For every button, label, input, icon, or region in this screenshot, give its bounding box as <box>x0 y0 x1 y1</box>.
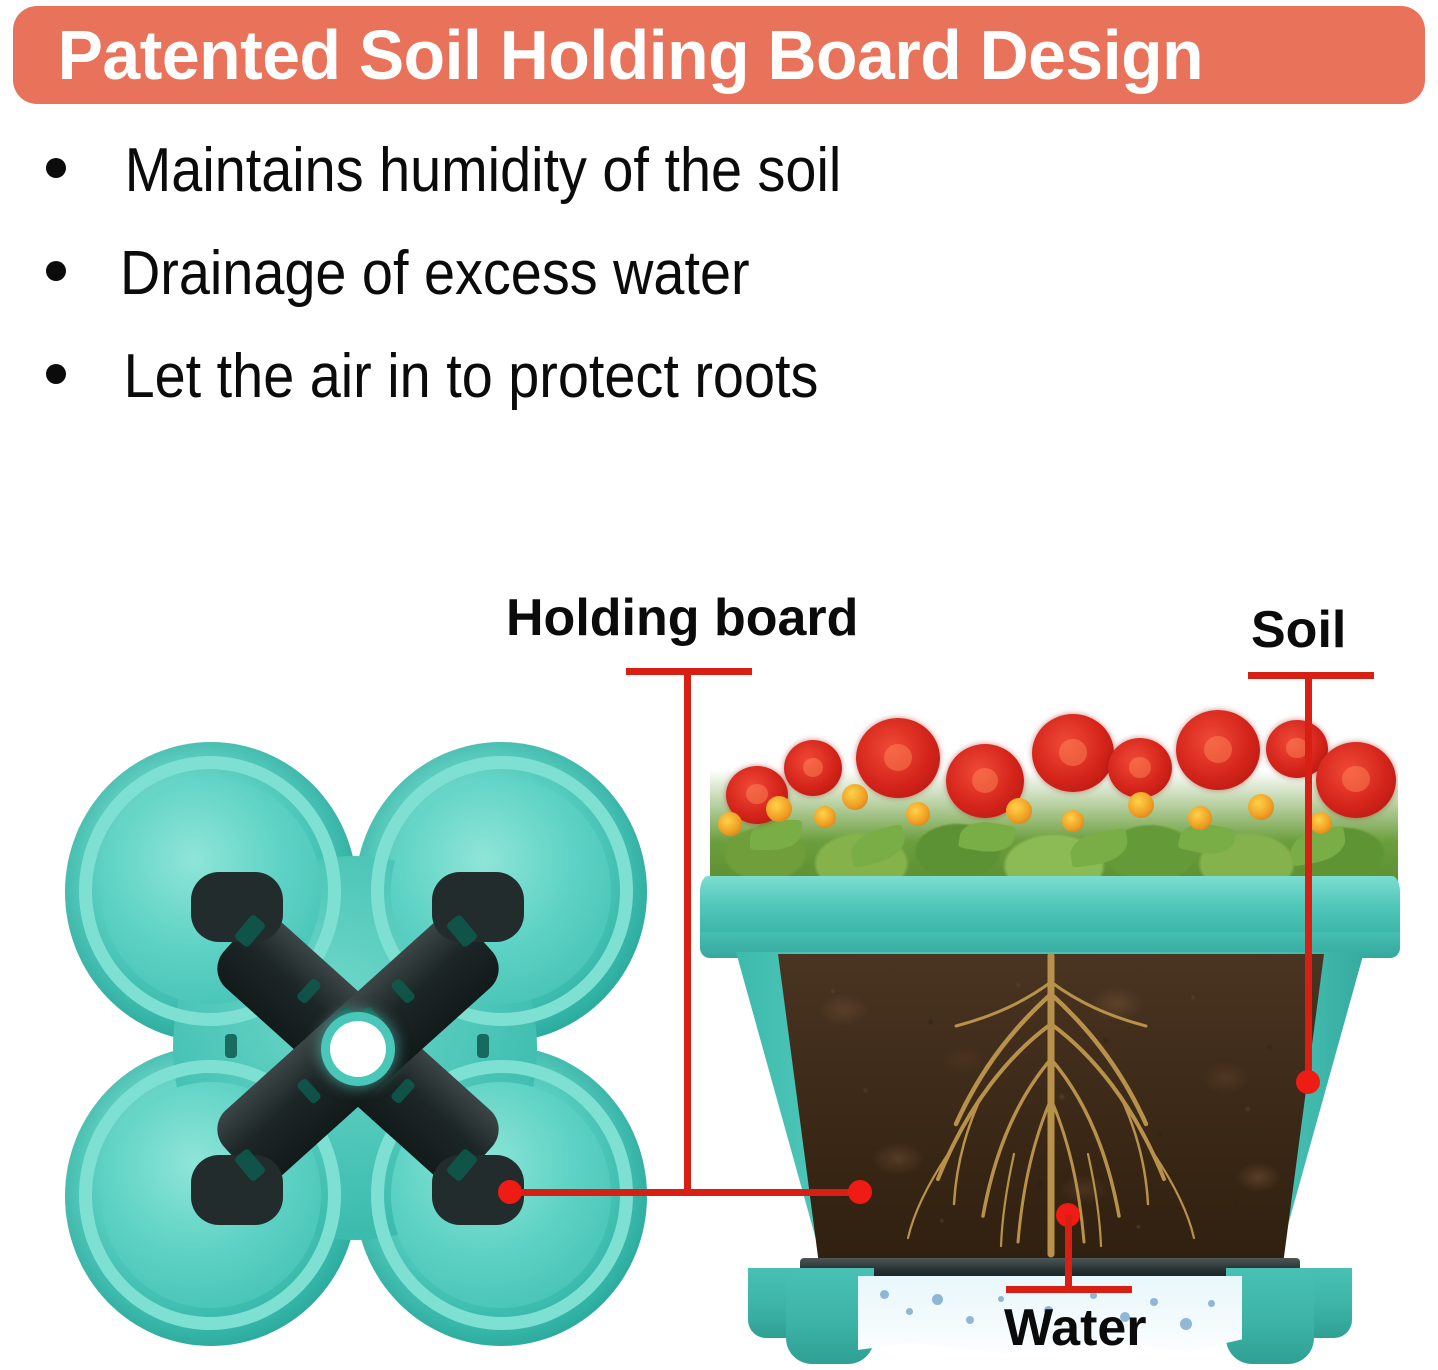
flower-bud <box>842 784 868 810</box>
bullet-point-icon <box>46 261 66 281</box>
planter-top-view-image <box>55 738 655 1358</box>
list-item: Drainage of excess water <box>46 243 1146 346</box>
header-banner: Patented Soil Holding Board Design <box>13 6 1425 104</box>
flower-bud <box>1310 812 1332 834</box>
feature-bullet-list: Maintains humidity of the soil Drainage … <box>46 140 1146 449</box>
callout-label-soil: Soil <box>1251 604 1346 656</box>
water-leader-bar <box>1006 1286 1132 1293</box>
water-droplet <box>1090 1292 1097 1299</box>
flower-bloom <box>1316 742 1396 818</box>
board-corner-pad <box>191 1155 283 1225</box>
flower-bloom <box>1108 738 1172 798</box>
water-droplet <box>966 1316 974 1324</box>
callout-label-holding-board: Holding board <box>506 592 858 644</box>
feature-text: Let the air in to protect roots <box>124 346 819 408</box>
product-diagram: Holding board Soil Water <box>0 560 1438 1369</box>
holding-board-leader-cross <box>510 1189 862 1196</box>
holding-board-marker-left <box>498 1180 522 1204</box>
callout-label-water: Water <box>1004 1302 1147 1354</box>
water-droplet <box>906 1308 913 1315</box>
water-droplet <box>1208 1300 1215 1307</box>
feature-text: Maintains humidity of the soil <box>125 140 841 202</box>
flower-cluster <box>710 680 1398 890</box>
flower-bud <box>1062 810 1084 832</box>
holding-board-marker-right <box>848 1180 872 1204</box>
flower-bloom <box>1176 710 1260 790</box>
water-droplet <box>1150 1298 1158 1306</box>
bullet-point-icon <box>46 158 66 178</box>
soil-texture <box>778 954 1324 1264</box>
board-vent-slot <box>477 1034 489 1058</box>
soil-leader-stem <box>1305 672 1312 1076</box>
bullet-point-icon <box>46 364 66 384</box>
feature-text: Drainage of excess water <box>120 243 750 305</box>
water-leader-stem <box>1065 1215 1072 1291</box>
flower-bud <box>1248 794 1274 820</box>
flower-bud <box>906 802 930 826</box>
holding-board-leader-stem <box>684 668 691 1195</box>
flower-bud <box>1188 806 1212 830</box>
soil-marker <box>1296 1070 1320 1094</box>
flower-bud <box>1128 792 1154 818</box>
board-corner-pad <box>432 872 524 942</box>
flower-bud <box>766 796 792 822</box>
page-title: Patented Soil Holding Board Design <box>13 6 1383 104</box>
flower-bud <box>718 812 742 836</box>
soil-holding-board <box>185 866 530 1231</box>
board-vent-slot <box>225 1034 237 1058</box>
flower-bloom <box>784 740 842 796</box>
flower-bud <box>814 806 836 828</box>
flower-bloom <box>856 718 940 798</box>
water-droplet <box>932 1294 943 1305</box>
drainage-hole <box>330 1021 386 1077</box>
water-droplet <box>1180 1318 1192 1330</box>
flower-bloom <box>1032 714 1114 792</box>
flower-bud <box>1006 798 1032 824</box>
soil-layer <box>778 954 1324 1264</box>
list-item: Let the air in to protect roots <box>46 346 1146 449</box>
water-droplet <box>880 1290 889 1299</box>
list-item: Maintains humidity of the soil <box>46 140 1146 243</box>
planter-cross-section-image <box>700 680 1400 1370</box>
